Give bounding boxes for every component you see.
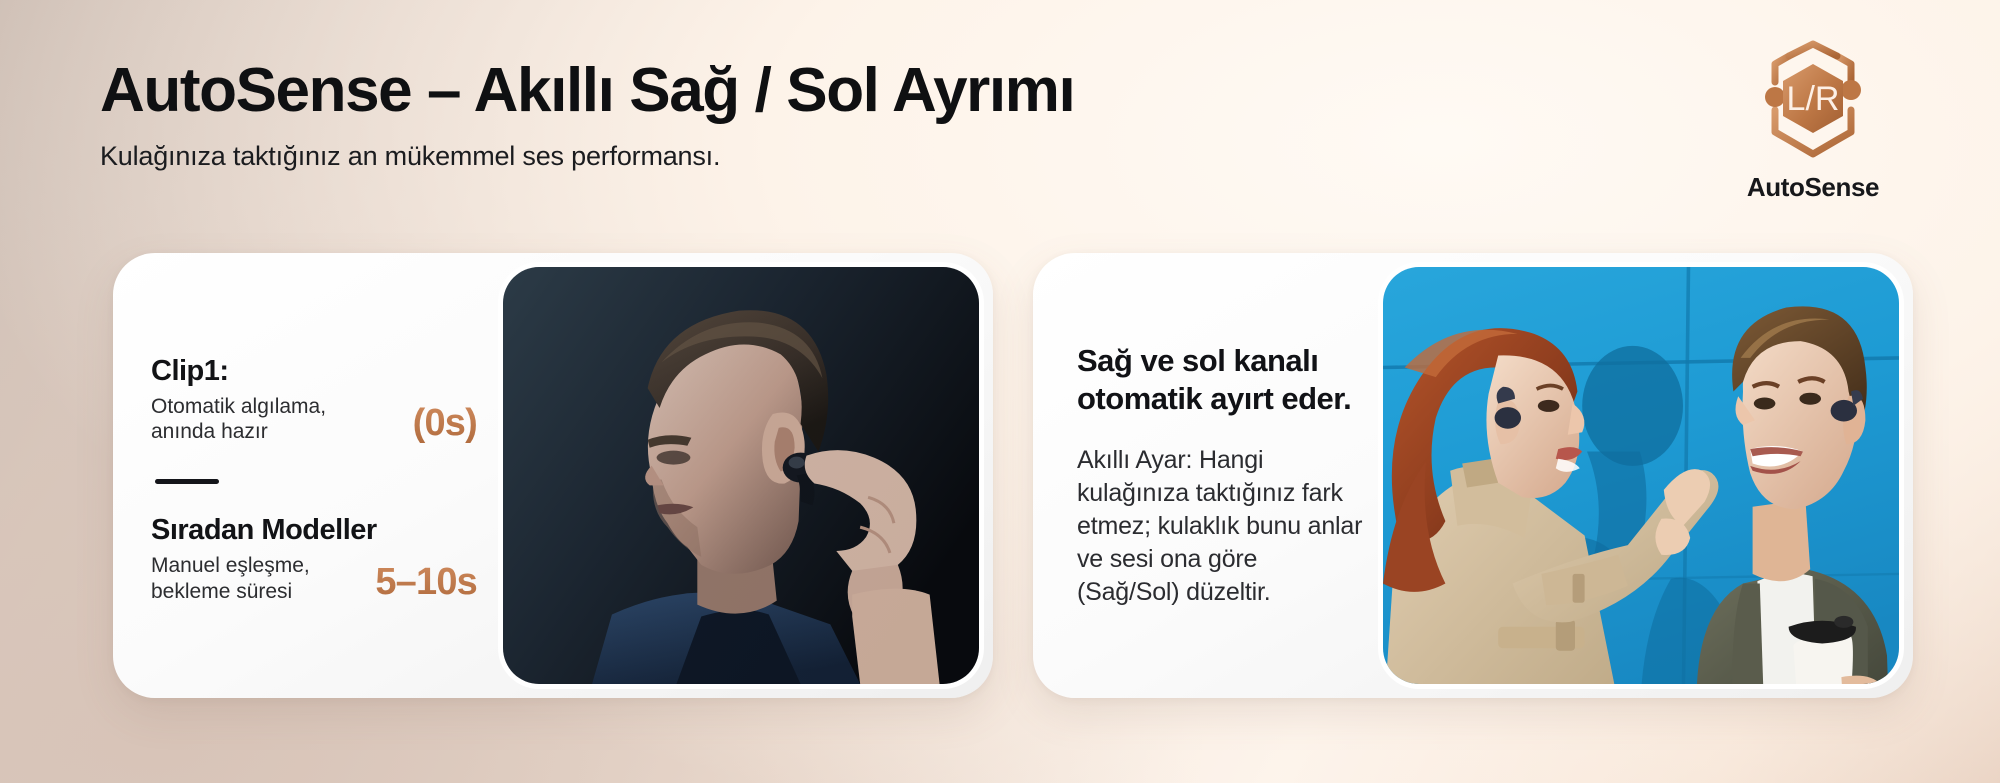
row-description-line1: Manuel eşleşme, (151, 553, 310, 579)
feature-card: Sağ ve sol kanalı otomatik ayırt eder. A… (1033, 253, 1913, 698)
header: AutoSense – Akıllı Sağ / Sol Ayrımı Kula… (100, 58, 1074, 172)
couple-photo (1383, 267, 1899, 684)
row-description: Otomatik algılama, anında hazır (151, 394, 326, 445)
autosense-logo: L/R AutoSense (1688, 40, 1938, 203)
lr-hexagon-icon: L/R (1749, 40, 1877, 168)
row-heading: Sıradan Modeller (151, 514, 477, 547)
row-value-badge: 5–10s (375, 561, 477, 604)
comparison-row-clip1: Clip1: Otomatik algılama, anında hazır (… (151, 355, 477, 445)
comparison-row-ordinary: Sıradan Modeller Manuel eşleşme, bekleme… (151, 514, 477, 604)
row-description-line2: bekleme süresi (151, 579, 310, 605)
row-description-line2: anında hazır (151, 419, 326, 445)
comparison-text-pane: Clip1: Otomatik algılama, anında hazır (… (113, 253, 503, 698)
left-photo-wrap (503, 253, 993, 698)
feature-body: Akıllı Ayar: Hangi kulağınıza taktığınız… (1077, 444, 1365, 609)
row-divider (155, 479, 219, 484)
page-subtitle: Kulağınıza taktığınız an mükemmel ses pe… (100, 141, 1074, 172)
man-earbud-photo (503, 267, 979, 684)
lr-badge-label: L/R (1787, 80, 1840, 118)
row-description-line1: Otomatik algılama, (151, 394, 326, 420)
promo-banner: AutoSense – Akıllı Sağ / Sol Ayrımı Kula… (0, 0, 2000, 783)
page-title: AutoSense – Akıllı Sağ / Sol Ayrımı (100, 58, 1074, 123)
right-photo-wrap (1383, 253, 1913, 698)
logo-wordmark: AutoSense (1747, 172, 1879, 203)
cards-row: Clip1: Otomatik algılama, anında hazır (… (113, 253, 1913, 698)
feature-heading: Sağ ve sol kanalı otomatik ayırt eder. (1077, 342, 1365, 418)
row-description: Manuel eşleşme, bekleme süresi (151, 553, 310, 604)
row-heading: Clip1: (151, 355, 477, 388)
comparison-card: Clip1: Otomatik algılama, anında hazır (… (113, 253, 993, 698)
feature-text-pane: Sağ ve sol kanalı otomatik ayırt eder. A… (1033, 253, 1383, 698)
row-value-badge: (0s) (413, 402, 477, 445)
